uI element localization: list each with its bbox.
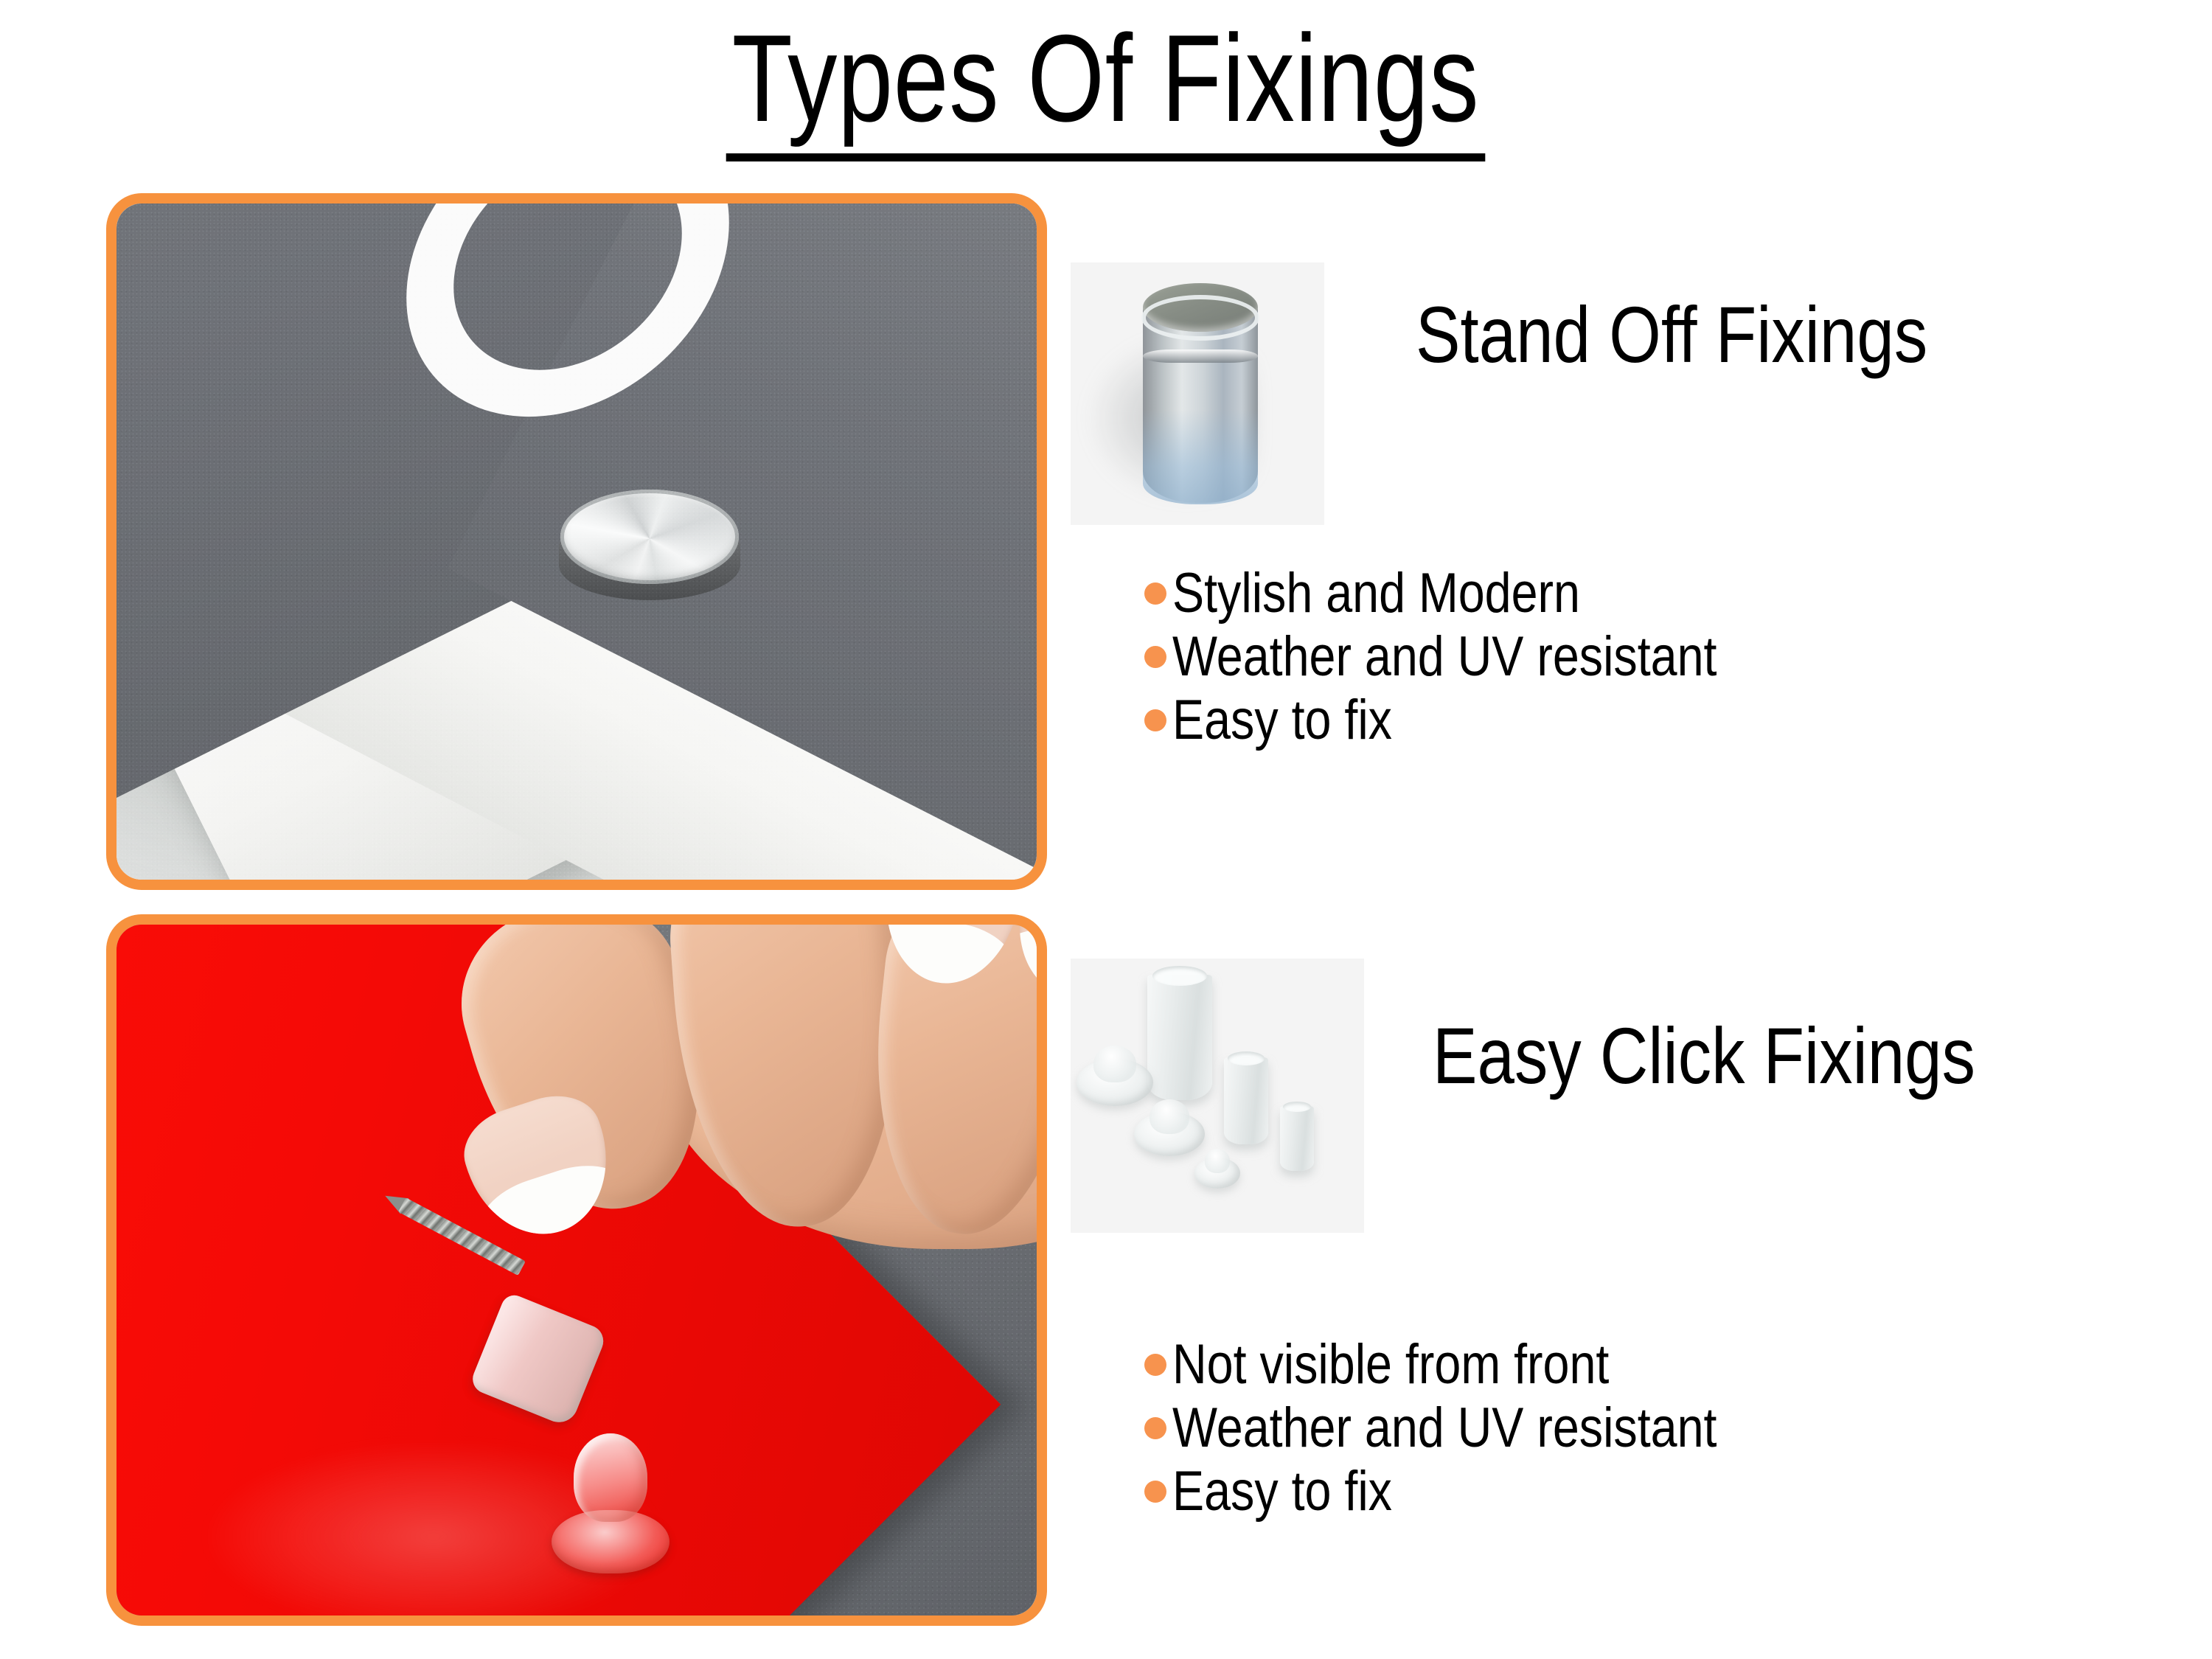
photo-frame-easy-click [106, 914, 1047, 1626]
bullet-dot-icon [1144, 582, 1166, 605]
bullet-label: Weather and UV resistant [1172, 629, 1717, 685]
photo-stand-off-fixing [116, 204, 1037, 880]
list-item: Not visible from front [1144, 1333, 1813, 1397]
bullet-dot-icon [1144, 1354, 1166, 1376]
standoff-barrel-cap-edge [1141, 295, 1259, 341]
bullet-dot-icon [1144, 1417, 1166, 1439]
page-title: Types Of Fixings [726, 16, 1486, 161]
list-item: Weather and UV resistant [1144, 1397, 1813, 1460]
clear-dome-cap-medium [1134, 1112, 1205, 1156]
bullet-list-easy-click: Not visible from front Weather and UV re… [1144, 1333, 1813, 1523]
standoff-barrel-blue-tint [1143, 410, 1258, 504]
standoff-cap [559, 490, 740, 624]
product-photo-stand-off-barrel [1071, 262, 1324, 525]
standoff-cap-rim [560, 490, 739, 584]
bullet-label: Easy to fix [1172, 692, 1392, 748]
hand [434, 925, 1037, 1455]
list-item: Stylish and Modern [1144, 562, 1813, 625]
list-item: Easy to fix [1144, 1460, 1813, 1523]
clear-cylinder-small [1280, 1106, 1314, 1171]
bullet-dot-icon [1144, 1481, 1166, 1503]
product-photo-easy-click-parts [1071, 959, 1364, 1233]
clear-cylinder-large [1147, 975, 1212, 1100]
list-item: Easy to fix [1144, 689, 1813, 752]
bullet-dot-icon [1144, 709, 1166, 731]
clear-cylinder-medium [1224, 1057, 1268, 1144]
bullet-dot-icon [1144, 646, 1166, 668]
bullet-label: Stylish and Modern [1172, 566, 1580, 622]
standoff-barrel-ring [1143, 349, 1258, 363]
photo-frame-stand-off [106, 193, 1047, 890]
bullet-label: Weather and UV resistant [1172, 1400, 1717, 1456]
list-item: Weather and UV resistant [1144, 625, 1813, 689]
section-heading-easy-click: Easy Click Fixings [1433, 1016, 1975, 1096]
bullet-label: Not visible from front [1172, 1337, 1609, 1393]
bullet-list-stand-off: Stylish and Modern Weather and UV resist… [1144, 562, 1813, 752]
clear-dome-cap-large [1077, 1059, 1153, 1106]
section-heading-stand-off: Stand Off Fixings [1416, 295, 1927, 375]
bullet-label: Easy to fix [1172, 1464, 1392, 1520]
title-block: Types Of Fixings [0, 16, 2212, 161]
photo-easy-click-fixing [116, 925, 1037, 1615]
clear-dome-cap-small [1194, 1158, 1240, 1189]
